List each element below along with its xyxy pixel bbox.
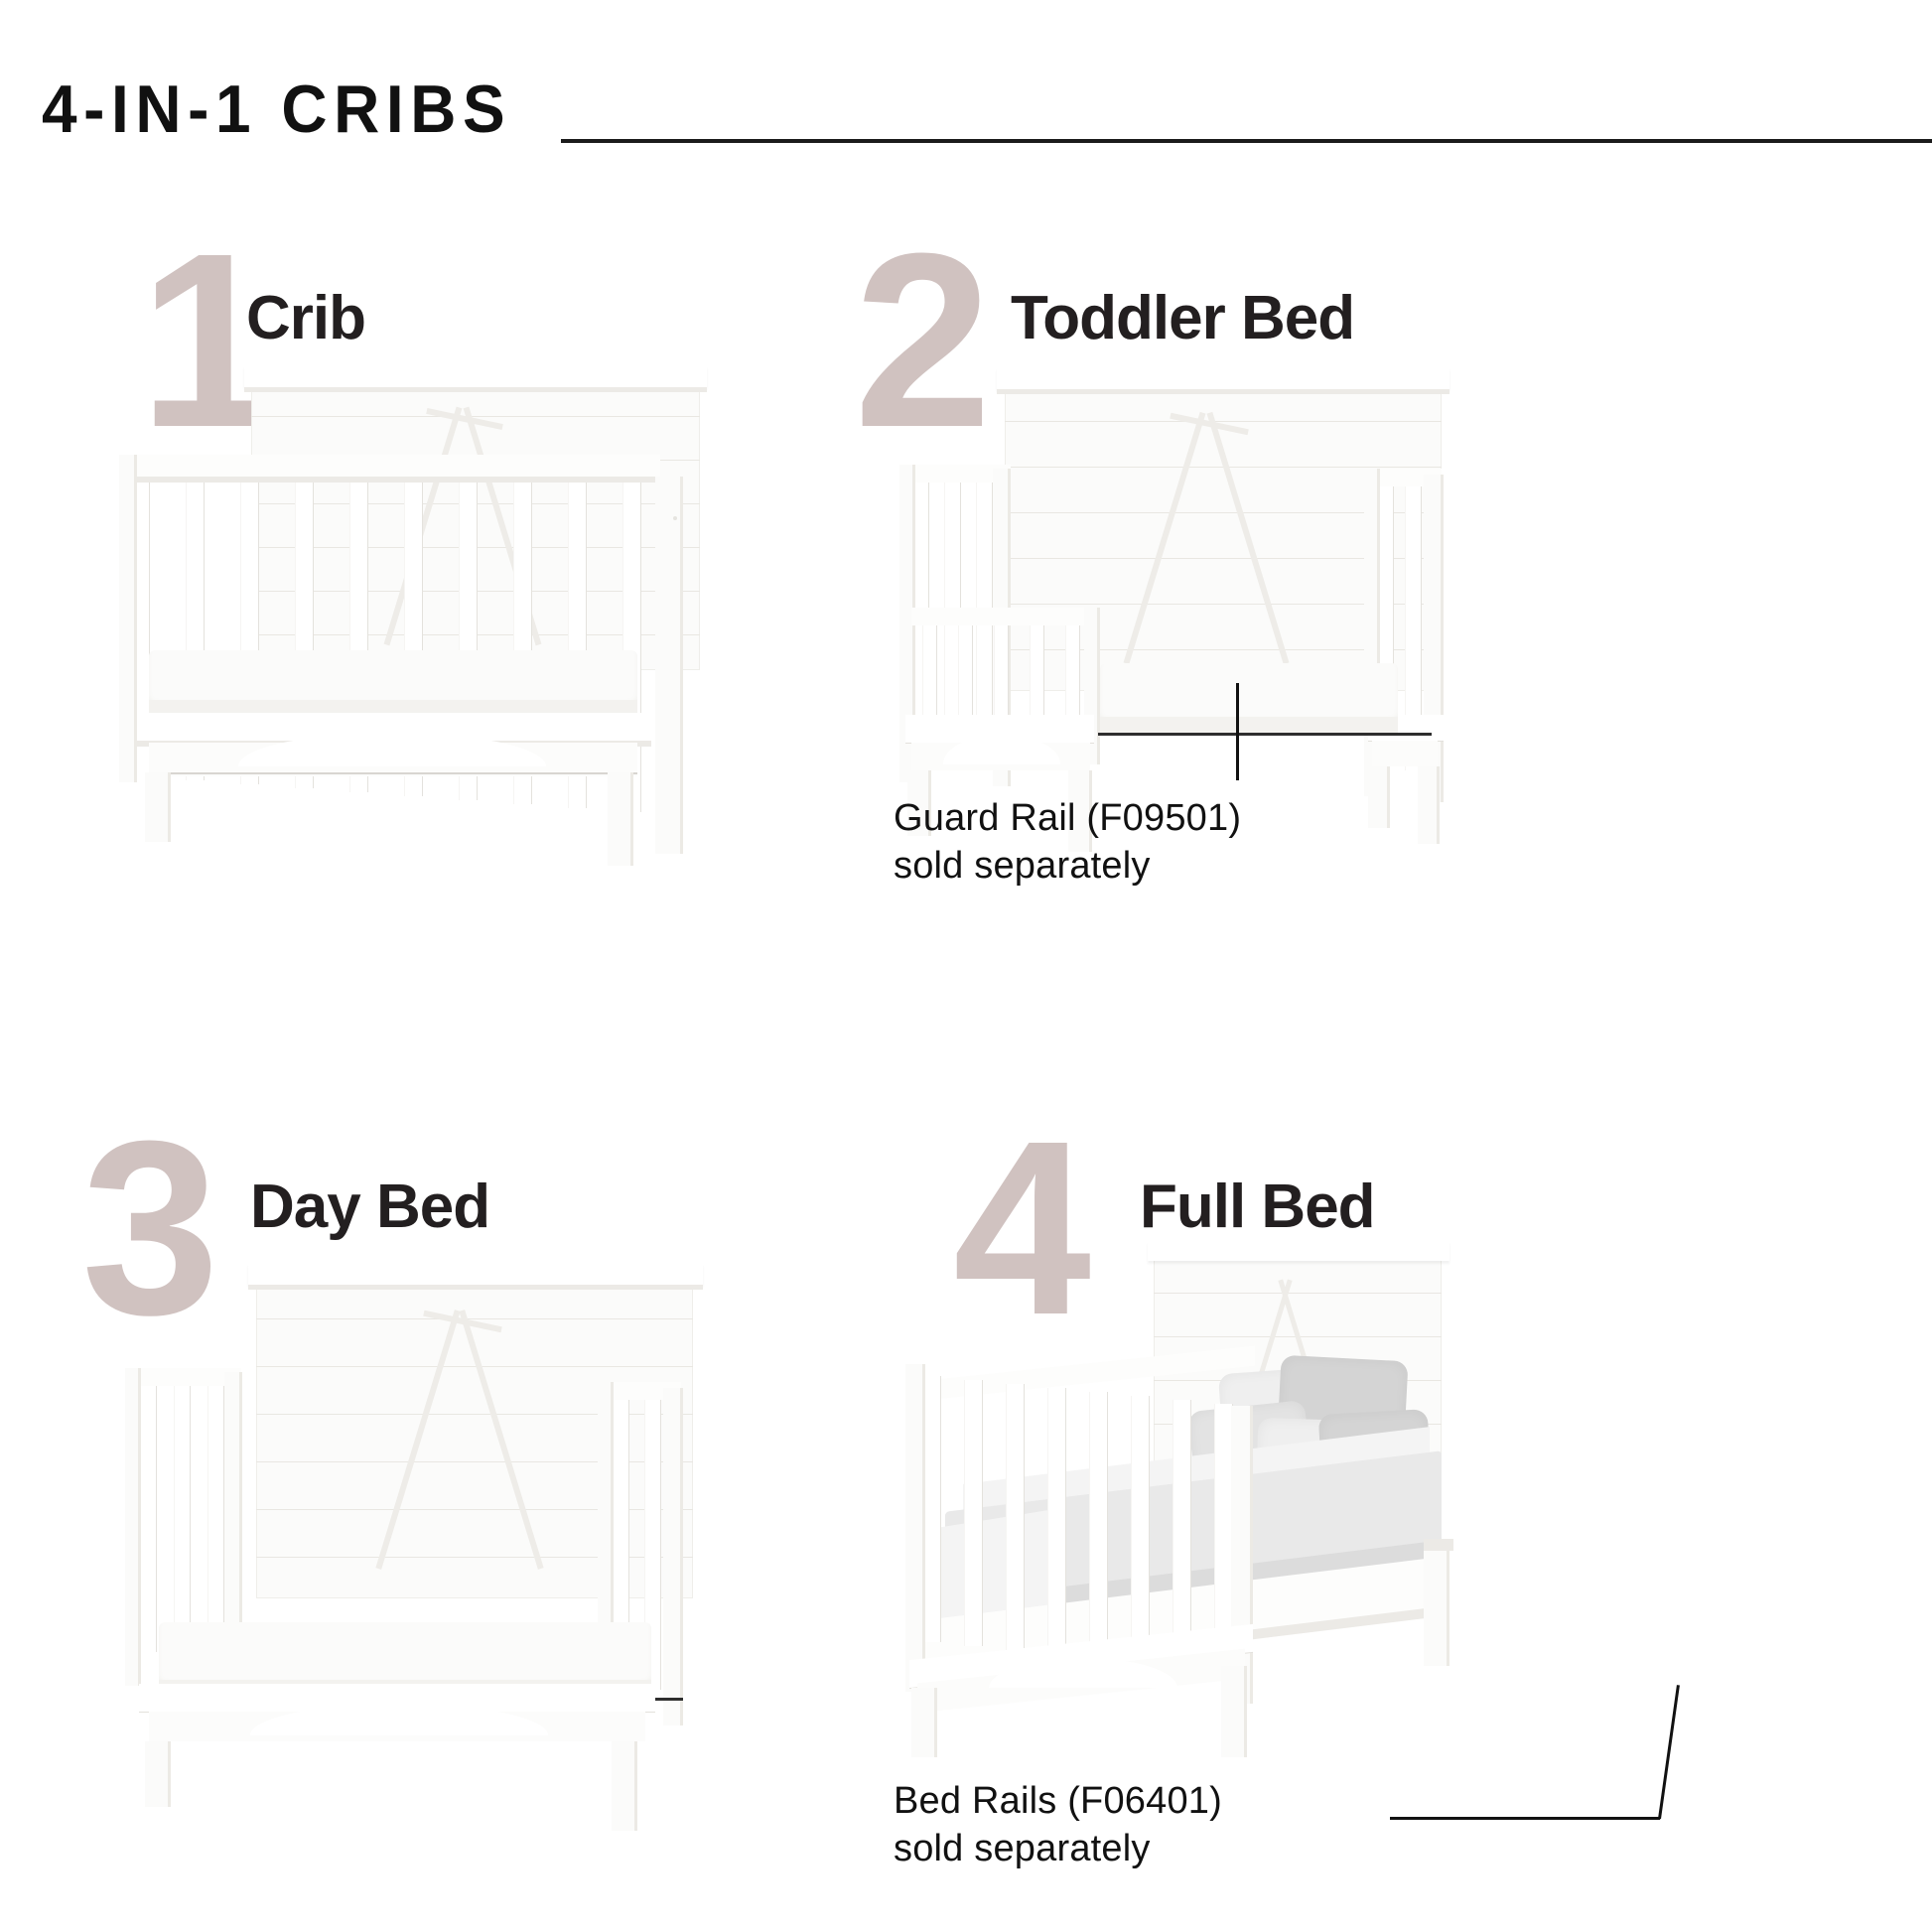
guard-rail-caption-line2: sold separately: [894, 842, 1241, 890]
bed-rails-caption-line1: Bed Rails (F06401): [894, 1777, 1222, 1825]
header-divider: [561, 139, 1932, 143]
panel-full-bed: 4 Full Bed: [894, 1122, 1932, 1876]
bed-rails-caption-line2: sold separately: [894, 1825, 1222, 1872]
full-bed-illustration: [894, 1122, 1932, 1876]
page-title: 4-IN-1 CRIBS: [42, 69, 511, 149]
crib-illustration: [0, 199, 894, 933]
guard-rail-leader-line: [1236, 683, 1239, 780]
guard-rail-caption-line1: Guard Rail (F09501): [894, 794, 1241, 842]
day-bed-illustration: [0, 1122, 894, 1876]
panel-toddler-bed: 2 Toddler Bed: [894, 199, 1932, 933]
bed-rails-leader-horizontal: [1390, 1817, 1660, 1820]
bed-rails-caption: Bed Rails (F06401) sold separately: [894, 1777, 1222, 1872]
panel-day-bed: 3 Day Bed: [0, 1122, 894, 1876]
guard-rail-caption: Guard Rail (F09501) sold separately: [894, 794, 1241, 890]
infographic-page: 4-IN-1 CRIBS 1 Crib: [0, 0, 1932, 1932]
header: 4-IN-1 CRIBS: [42, 69, 1908, 159]
panel-crib: 1 Crib: [0, 199, 894, 933]
